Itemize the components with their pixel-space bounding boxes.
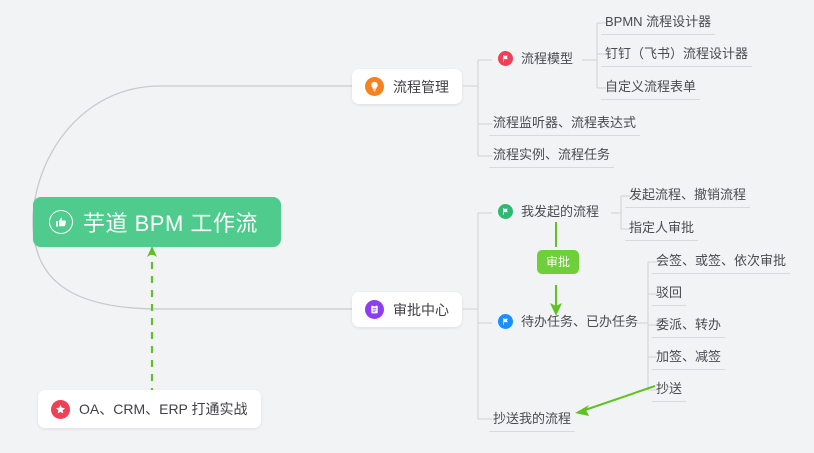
- leaf-add-remove-sign[interactable]: 加签、减签: [652, 348, 725, 370]
- arrow-cc-to-cc-processes: [575, 386, 655, 416]
- root-label: 芋道 BPM 工作流: [83, 206, 258, 238]
- footnote-label: OA、CRM、ERP 打通实战: [79, 399, 248, 419]
- branch-process-management[interactable]: 流程管理: [352, 69, 462, 104]
- leaf-bpmn-designer[interactable]: BPMN 流程设计器: [601, 13, 715, 35]
- thumbs-up-icon: [49, 210, 73, 234]
- branch-approval-center[interactable]: 审批中心: [352, 292, 462, 327]
- node-process-model-label: 流程模型: [521, 50, 573, 67]
- node-todo-done-tasks[interactable]: 待办任务、已办任务: [494, 313, 642, 330]
- mindmap-canvas: 芋道 BPM 工作流 OA、CRM、ERP 打通实战 流程管理 流程模型 B: [0, 0, 814, 453]
- node-todo-done-tasks-label: 待办任务、已办任务: [521, 313, 638, 330]
- lightbulb-icon: [365, 77, 384, 96]
- leaf-assignee-approval[interactable]: 指定人审批: [625, 219, 698, 241]
- leaf-process-listener-expression[interactable]: 流程监听器、流程表达式: [489, 114, 640, 136]
- node-my-started-processes-label: 我发起的流程: [521, 203, 599, 220]
- leaf-cc[interactable]: 抄送: [652, 380, 686, 402]
- leaf-start-cancel-process[interactable]: 发起流程、撤销流程: [625, 186, 750, 208]
- leaf-dingtalk-feishu-designer[interactable]: 钉钉（飞书）流程设计器: [601, 45, 752, 67]
- leaf-process-instance-task[interactable]: 流程实例、流程任务: [489, 146, 614, 168]
- leaf-delegate-transfer[interactable]: 委派、转办: [652, 316, 725, 338]
- leaf-cc-my-processes[interactable]: 抄送我的流程: [489, 410, 575, 432]
- dashed-arrow-footnote-to-root: [147, 246, 157, 395]
- node-process-model[interactable]: 流程模型: [494, 50, 577, 67]
- clipboard-icon: [365, 300, 384, 319]
- star-icon: [51, 400, 70, 419]
- node-my-started-processes[interactable]: 我发起的流程: [494, 203, 603, 220]
- root-node[interactable]: 芋道 BPM 工作流: [33, 197, 281, 247]
- flag-green-icon: [498, 204, 513, 219]
- leaf-reject[interactable]: 驳回: [652, 284, 686, 306]
- footnote-card[interactable]: OA、CRM、ERP 打通实战: [38, 390, 261, 428]
- flag-red-icon: [498, 51, 513, 66]
- leaf-custom-process-form[interactable]: 自定义流程表单: [601, 78, 700, 100]
- branch-process-management-label: 流程管理: [393, 77, 449, 97]
- flag-blue-icon: [498, 314, 513, 329]
- branch-approval-center-label: 审批中心: [393, 300, 449, 320]
- leaf-countersign-orsign-sequential[interactable]: 会签、或签、依次审批: [652, 252, 790, 274]
- annotation-approval-chip: 审批: [537, 250, 579, 274]
